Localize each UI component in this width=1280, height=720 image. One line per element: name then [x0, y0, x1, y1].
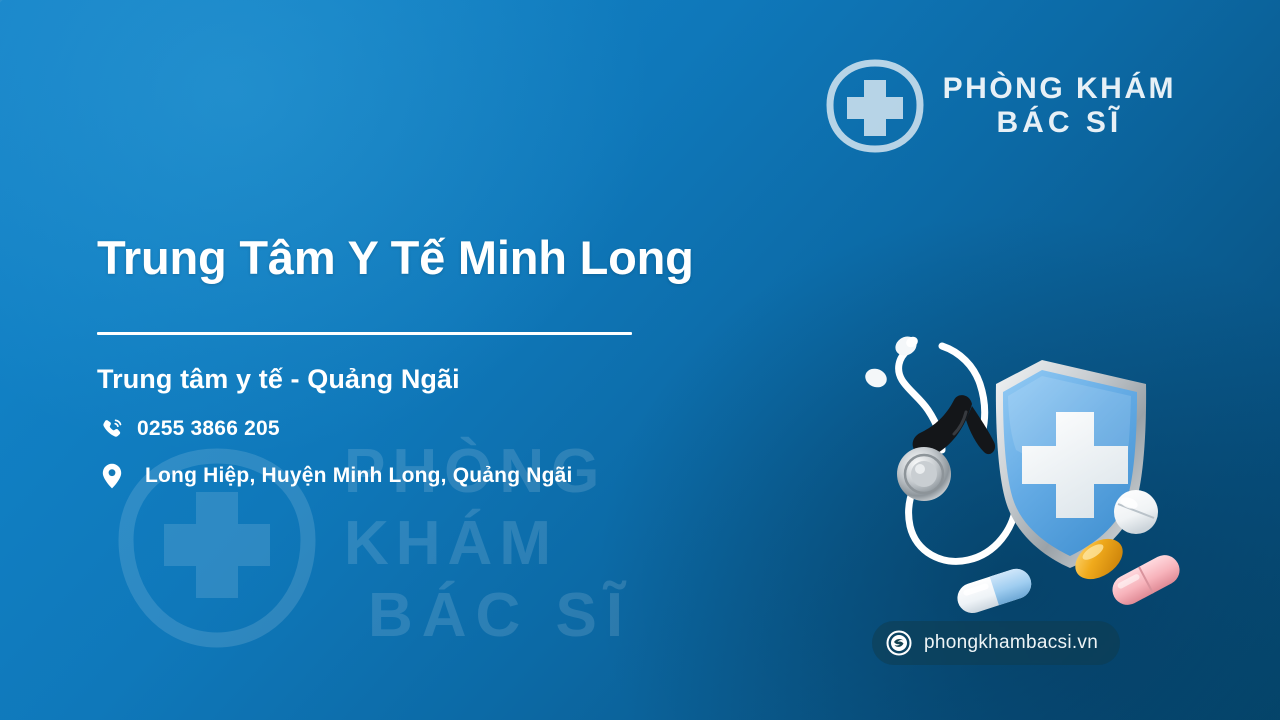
title-divider [97, 332, 632, 335]
website-url: phongkhambacsi.vn [924, 632, 1098, 654]
banner-canvas: PHÒNG KHÁM BÁC SĨ PHÒNG KHÁM BÁC SĨ Trun… [0, 0, 1280, 720]
watermark-line-2: BÁC SĨ [344, 580, 812, 652]
page-title: Trung Tâm Y Tế Minh Long [97, 232, 817, 284]
brand-logo: PHÒNG KHÁM BÁC SĨ [823, 58, 1176, 154]
brand-logo-line-2: BÁC SĨ [943, 106, 1176, 140]
globe-icon [886, 630, 912, 656]
medical-cross-circle-icon [823, 58, 927, 154]
medical-shield-stethoscope-pills-illustration [846, 322, 1182, 618]
clinic-subtitle: Trung tâm y tế - Quảng Ngãi [97, 364, 817, 395]
phone-call-icon [97, 417, 127, 441]
clinic-info-block: Trung Tâm Y Tế Minh Long Trung tâm y tế … [97, 232, 817, 489]
brand-logo-line-1: PHÒNG KHÁM [943, 72, 1176, 106]
phone-row[interactable]: 0255 3866 205 [97, 417, 817, 441]
website-badge[interactable]: phongkhambacsi.vn [872, 621, 1120, 665]
clinic-address: Long Hiệp, Huyện Minh Long, Quảng Ngãi [145, 464, 573, 488]
map-pin-icon [97, 463, 127, 489]
brand-logo-text: PHÒNG KHÁM BÁC SĨ [943, 72, 1176, 139]
phone-number: 0255 3866 205 [137, 417, 280, 441]
address-row[interactable]: Long Hiệp, Huyện Minh Long, Quảng Ngãi [97, 463, 817, 489]
